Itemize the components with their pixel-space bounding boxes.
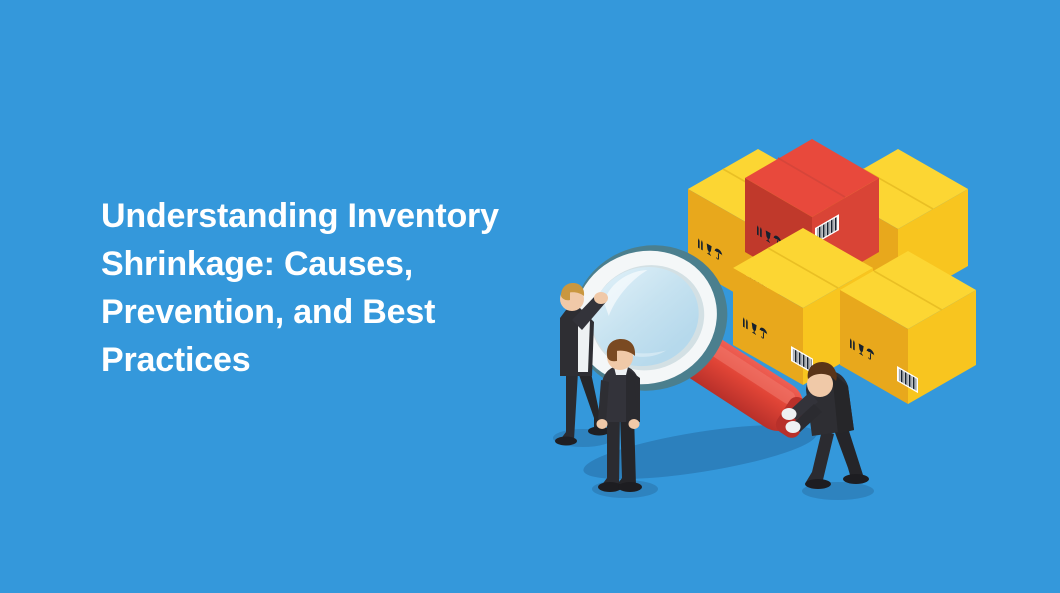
banner: Understanding Inventory Shrinkage: Cause… bbox=[0, 0, 1060, 593]
box-top-red bbox=[745, 139, 879, 291]
page-title: Understanding Inventory Shrinkage: Cause… bbox=[101, 192, 561, 384]
box-front-left bbox=[733, 228, 873, 385]
magnifying-glass-lens bbox=[552, 224, 748, 413]
figure-center-standing bbox=[597, 339, 643, 492]
box-back-right bbox=[828, 149, 968, 306]
box-back-left bbox=[688, 149, 828, 306]
figure-left-reaching bbox=[555, 283, 610, 446]
box-front-right bbox=[840, 251, 976, 404]
ground-shadows bbox=[553, 414, 874, 500]
figure-right-carrying bbox=[782, 362, 870, 489]
magnifier-handle bbox=[668, 322, 819, 445]
